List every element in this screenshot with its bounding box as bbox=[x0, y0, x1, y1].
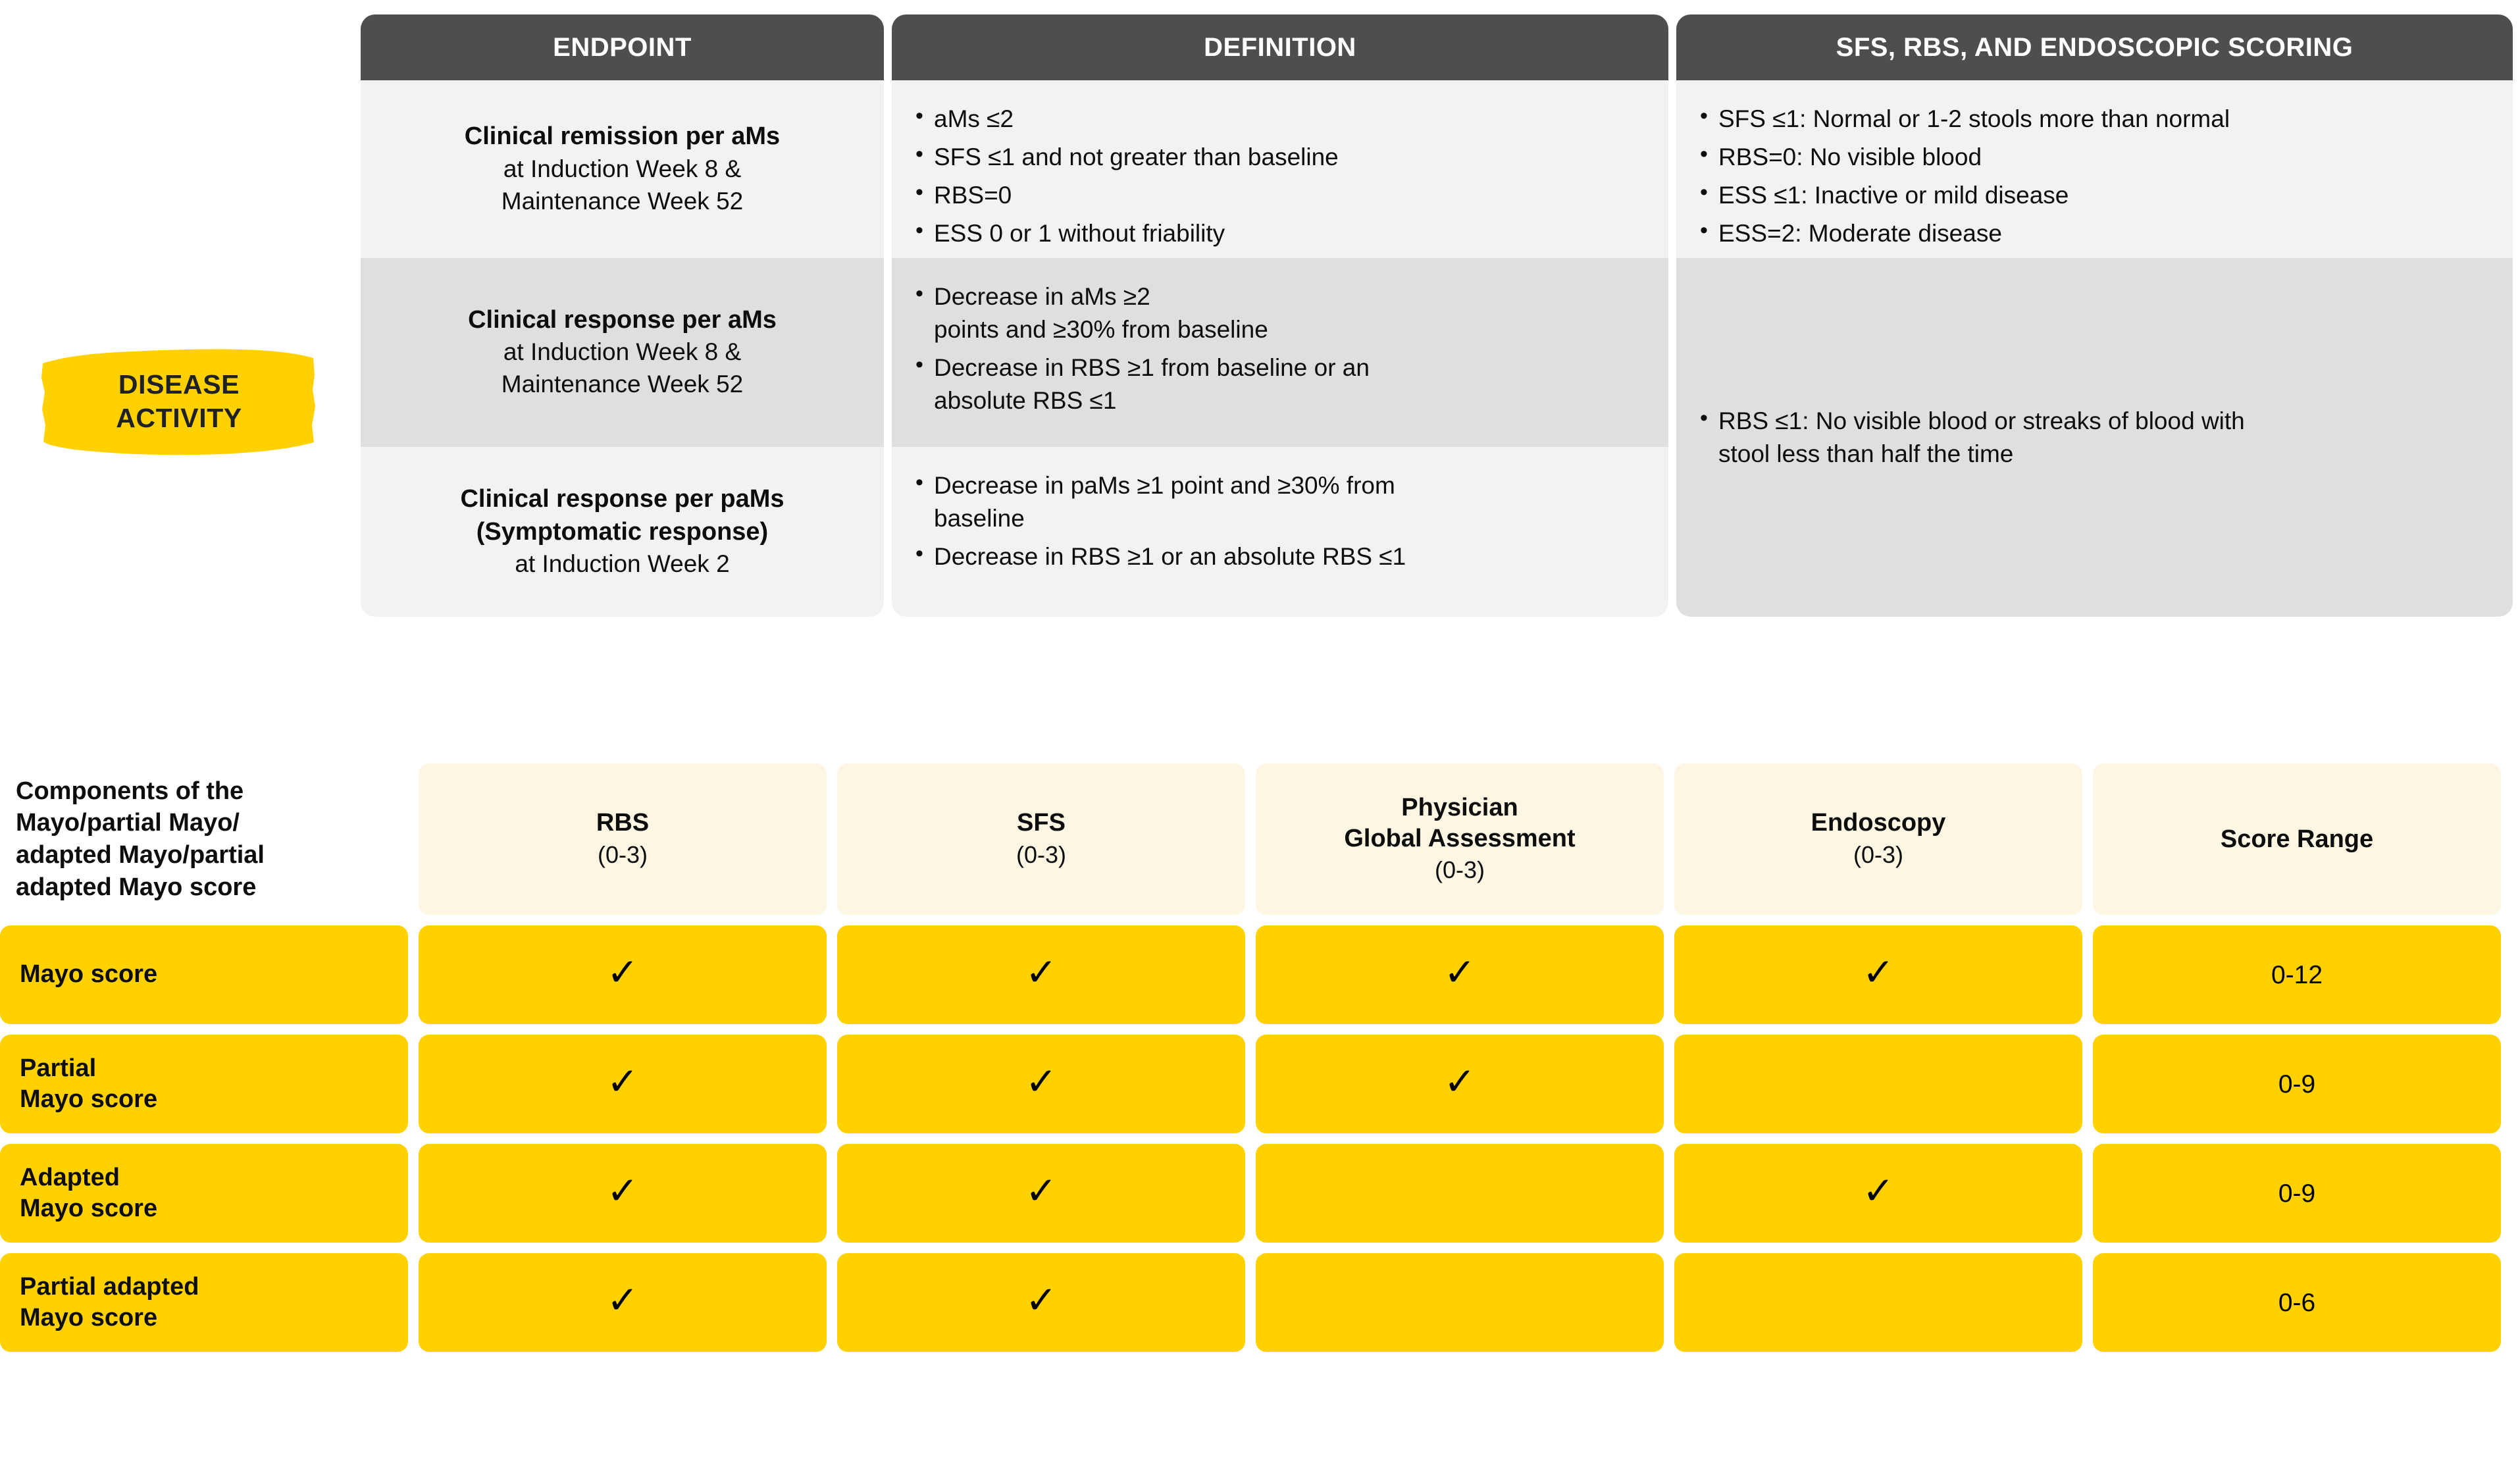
check-icon: ✓ bbox=[607, 953, 639, 991]
list-item: ESS ≤1: Inactive or mild disease bbox=[1699, 179, 2490, 212]
cell-partial-mayo-rbs: ✓ bbox=[419, 1035, 827, 1133]
column-header-name: Score Range bbox=[2221, 824, 2373, 854]
column-header-range: (0-3) bbox=[1016, 840, 1066, 871]
mayo-components-table: Components of the Mayo/partial Mayo/ ada… bbox=[0, 763, 2520, 1352]
scoring-bullet-list: RBS ≤1: No visible blood or streaks of b… bbox=[1699, 405, 2245, 471]
check-icon: ✓ bbox=[1863, 953, 1895, 991]
row-label-mayo-score: Mayo score bbox=[0, 925, 408, 1024]
scoring-column: SFS ≤1: Normal or 1-2 stools more than n… bbox=[1676, 80, 2513, 617]
column-header-range: (0-3) bbox=[1435, 855, 1485, 886]
definition-bullet-list: Decrease in paMs ≥1 point and ≥30% from … bbox=[914, 469, 1646, 573]
row-label-partial-mayo-score: Partial Mayo score bbox=[0, 1035, 408, 1133]
column-header-endpoint: ENDPOINT bbox=[361, 14, 884, 80]
column-header-scoring: SFS, RBS, AND ENDOSCOPIC SCORING bbox=[1676, 14, 2513, 80]
list-item: Decrease in RBS ≥1 from baseline or an a… bbox=[914, 351, 1646, 417]
endpoint-title: Clinical remission per aMs bbox=[383, 120, 861, 153]
list-item: Decrease in RBS ≥1 or an absolute RBS ≤1 bbox=[914, 540, 1646, 573]
cell-partial-mayo-score-range: 0-9 bbox=[2093, 1035, 2501, 1133]
definition-cell-1: aMs ≤2 SFS ≤1 and not greater than basel… bbox=[892, 80, 1668, 258]
disease-activity-badge-label: DISEASE ACTIVITY bbox=[41, 344, 317, 459]
column-header-sfs: SFS (0-3) bbox=[837, 763, 1245, 915]
column-header-name: RBS bbox=[596, 808, 649, 838]
cell-mayo-pga: ✓ bbox=[1256, 925, 1664, 1024]
cell-mayo-endoscopy: ✓ bbox=[1674, 925, 2082, 1024]
components-corner-label: Components of the Mayo/partial Mayo/ ada… bbox=[0, 763, 408, 915]
disease-activity-section: DISEASE ACTIVITY ENDPOINT DEFINITION SFS… bbox=[0, 0, 2520, 734]
endpoint-table-header-row: ENDPOINT DEFINITION SFS, RBS, AND ENDOSC… bbox=[361, 14, 2506, 80]
components-header-row: Components of the Mayo/partial Mayo/ ada… bbox=[0, 763, 2520, 915]
column-header-endoscopy: Endoscopy (0-3) bbox=[1674, 763, 2082, 915]
list-item: RBS=0: No visible blood bbox=[1699, 141, 2490, 174]
cell-adapted-mayo-endoscopy: ✓ bbox=[1674, 1144, 2082, 1243]
list-item: Decrease in aMs ≥2 points and ≥30% from … bbox=[914, 280, 1646, 346]
list-item: SFS ≤1: Normal or 1-2 stools more than n… bbox=[1699, 103, 2490, 136]
table-row: Adapted Mayo score ✓ ✓ ✓ ✓ 0-9 bbox=[0, 1144, 2520, 1243]
row-label-adapted-mayo-score: Adapted Mayo score bbox=[0, 1144, 408, 1243]
check-icon: ✓ bbox=[607, 1172, 639, 1210]
list-item: SFS ≤1 and not greater than baseline bbox=[914, 141, 1646, 174]
endpoint-subtitle: at Induction Week 8 & Maintenance Week 5… bbox=[383, 336, 861, 401]
table-row: Partial adapted Mayo score ✓ ✓ ✓ ✓ 0-6 bbox=[0, 1253, 2520, 1352]
endpoint-title: Clinical response per paMs (Symptomatic … bbox=[383, 483, 861, 548]
table-row: Clinical response per paMs (Symptomatic … bbox=[361, 447, 1668, 617]
definition-cell-2: Decrease in aMs ≥2 points and ≥30% from … bbox=[892, 258, 1668, 447]
check-icon: ✓ bbox=[607, 1281, 639, 1319]
cell-adapted-mayo-score-range: 0-9 bbox=[2093, 1144, 2501, 1243]
column-header-range: (0-3) bbox=[1853, 840, 1903, 871]
definition-bullet-list: aMs ≤2 SFS ≤1 and not greater than basel… bbox=[914, 103, 1646, 250]
column-header-name: Physician Global Assessment bbox=[1344, 792, 1575, 854]
row-label-partial-adapted-mayo-score: Partial adapted Mayo score bbox=[0, 1253, 408, 1352]
column-header-rbs: RBS (0-3) bbox=[419, 763, 827, 915]
endpoint-subtitle: at Induction Week 8 & Maintenance Week 5… bbox=[383, 153, 861, 218]
cell-mayo-score-range: 0-12 bbox=[2093, 925, 2501, 1024]
endpoint-cell-3: Clinical response per paMs (Symptomatic … bbox=[361, 447, 884, 617]
definition-bullet-list: Decrease in aMs ≥2 points and ≥30% from … bbox=[914, 280, 1646, 417]
cell-mayo-sfs: ✓ bbox=[837, 925, 1245, 1024]
cell-partial-adapted-mayo-endoscopy: ✓ bbox=[1674, 1253, 2082, 1352]
check-icon: ✓ bbox=[1444, 953, 1476, 991]
table-row: Clinical remission per aMs at Induction … bbox=[361, 80, 1668, 258]
table-row: Clinical response per aMs at Induction W… bbox=[361, 258, 1668, 447]
column-header-physician-global-assessment: Physician Global Assessment (0-3) bbox=[1256, 763, 1664, 915]
cell-adapted-mayo-pga: ✓ bbox=[1256, 1144, 1664, 1243]
list-item: RBS ≤1: No visible blood or streaks of b… bbox=[1699, 405, 2245, 471]
cell-partial-mayo-pga: ✓ bbox=[1256, 1035, 1664, 1133]
scoring-cell-1: SFS ≤1: Normal or 1-2 stools more than n… bbox=[1676, 80, 2513, 258]
scoring-cell-merged: RBS ≤1: No visible blood or streaks of b… bbox=[1676, 258, 2513, 617]
endpoint-cell-2: Clinical response per aMs at Induction W… bbox=[361, 258, 884, 447]
check-icon: ✓ bbox=[1025, 1172, 1058, 1210]
column-header-name: Endoscopy bbox=[1811, 808, 1946, 838]
table-row: Partial Mayo score ✓ ✓ ✓ ✓ 0-9 bbox=[0, 1035, 2520, 1133]
cell-partial-adapted-mayo-score-range: 0-6 bbox=[2093, 1253, 2501, 1352]
definition-cell-3: Decrease in paMs ≥1 point and ≥30% from … bbox=[892, 447, 1668, 617]
table-row: Mayo score ✓ ✓ ✓ ✓ 0-12 bbox=[0, 925, 2520, 1024]
column-header-definition: DEFINITION bbox=[892, 14, 1668, 80]
check-icon: ✓ bbox=[1444, 1062, 1476, 1100]
list-item: ESS=2: Moderate disease bbox=[1699, 217, 2490, 250]
check-icon: ✓ bbox=[607, 1062, 639, 1100]
endpoint-definition-table: ENDPOINT DEFINITION SFS, RBS, AND ENDOSC… bbox=[361, 14, 2506, 617]
column-header-score-range: Score Range bbox=[2093, 763, 2501, 915]
cell-partial-adapted-mayo-sfs: ✓ bbox=[837, 1253, 1245, 1352]
list-item: ESS 0 or 1 without friability bbox=[914, 217, 1646, 250]
check-icon: ✓ bbox=[1025, 953, 1058, 991]
cell-partial-mayo-endoscopy: ✓ bbox=[1674, 1035, 2082, 1133]
endpoint-title: Clinical response per aMs bbox=[383, 304, 861, 336]
column-header-name: SFS bbox=[1017, 808, 1066, 838]
endpoint-subtitle: at Induction Week 2 bbox=[383, 548, 861, 581]
cell-mayo-rbs: ✓ bbox=[419, 925, 827, 1024]
check-icon: ✓ bbox=[1025, 1062, 1058, 1100]
column-header-range: (0-3) bbox=[598, 840, 648, 871]
endpoint-cell-1: Clinical remission per aMs at Induction … bbox=[361, 80, 884, 258]
disease-activity-badge: DISEASE ACTIVITY bbox=[41, 344, 317, 459]
scoring-bullet-list: SFS ≤1: Normal or 1-2 stools more than n… bbox=[1699, 103, 2490, 250]
cell-partial-adapted-mayo-rbs: ✓ bbox=[419, 1253, 827, 1352]
cell-partial-mayo-sfs: ✓ bbox=[837, 1035, 1245, 1133]
check-icon: ✓ bbox=[1863, 1172, 1895, 1210]
cell-adapted-mayo-sfs: ✓ bbox=[837, 1144, 1245, 1243]
cell-adapted-mayo-rbs: ✓ bbox=[419, 1144, 827, 1243]
list-item: Decrease in paMs ≥1 point and ≥30% from … bbox=[914, 469, 1646, 535]
list-item: aMs ≤2 bbox=[914, 103, 1646, 136]
check-icon: ✓ bbox=[1025, 1281, 1058, 1319]
cell-partial-adapted-mayo-pga: ✓ bbox=[1256, 1253, 1664, 1352]
list-item: RBS=0 bbox=[914, 179, 1646, 212]
